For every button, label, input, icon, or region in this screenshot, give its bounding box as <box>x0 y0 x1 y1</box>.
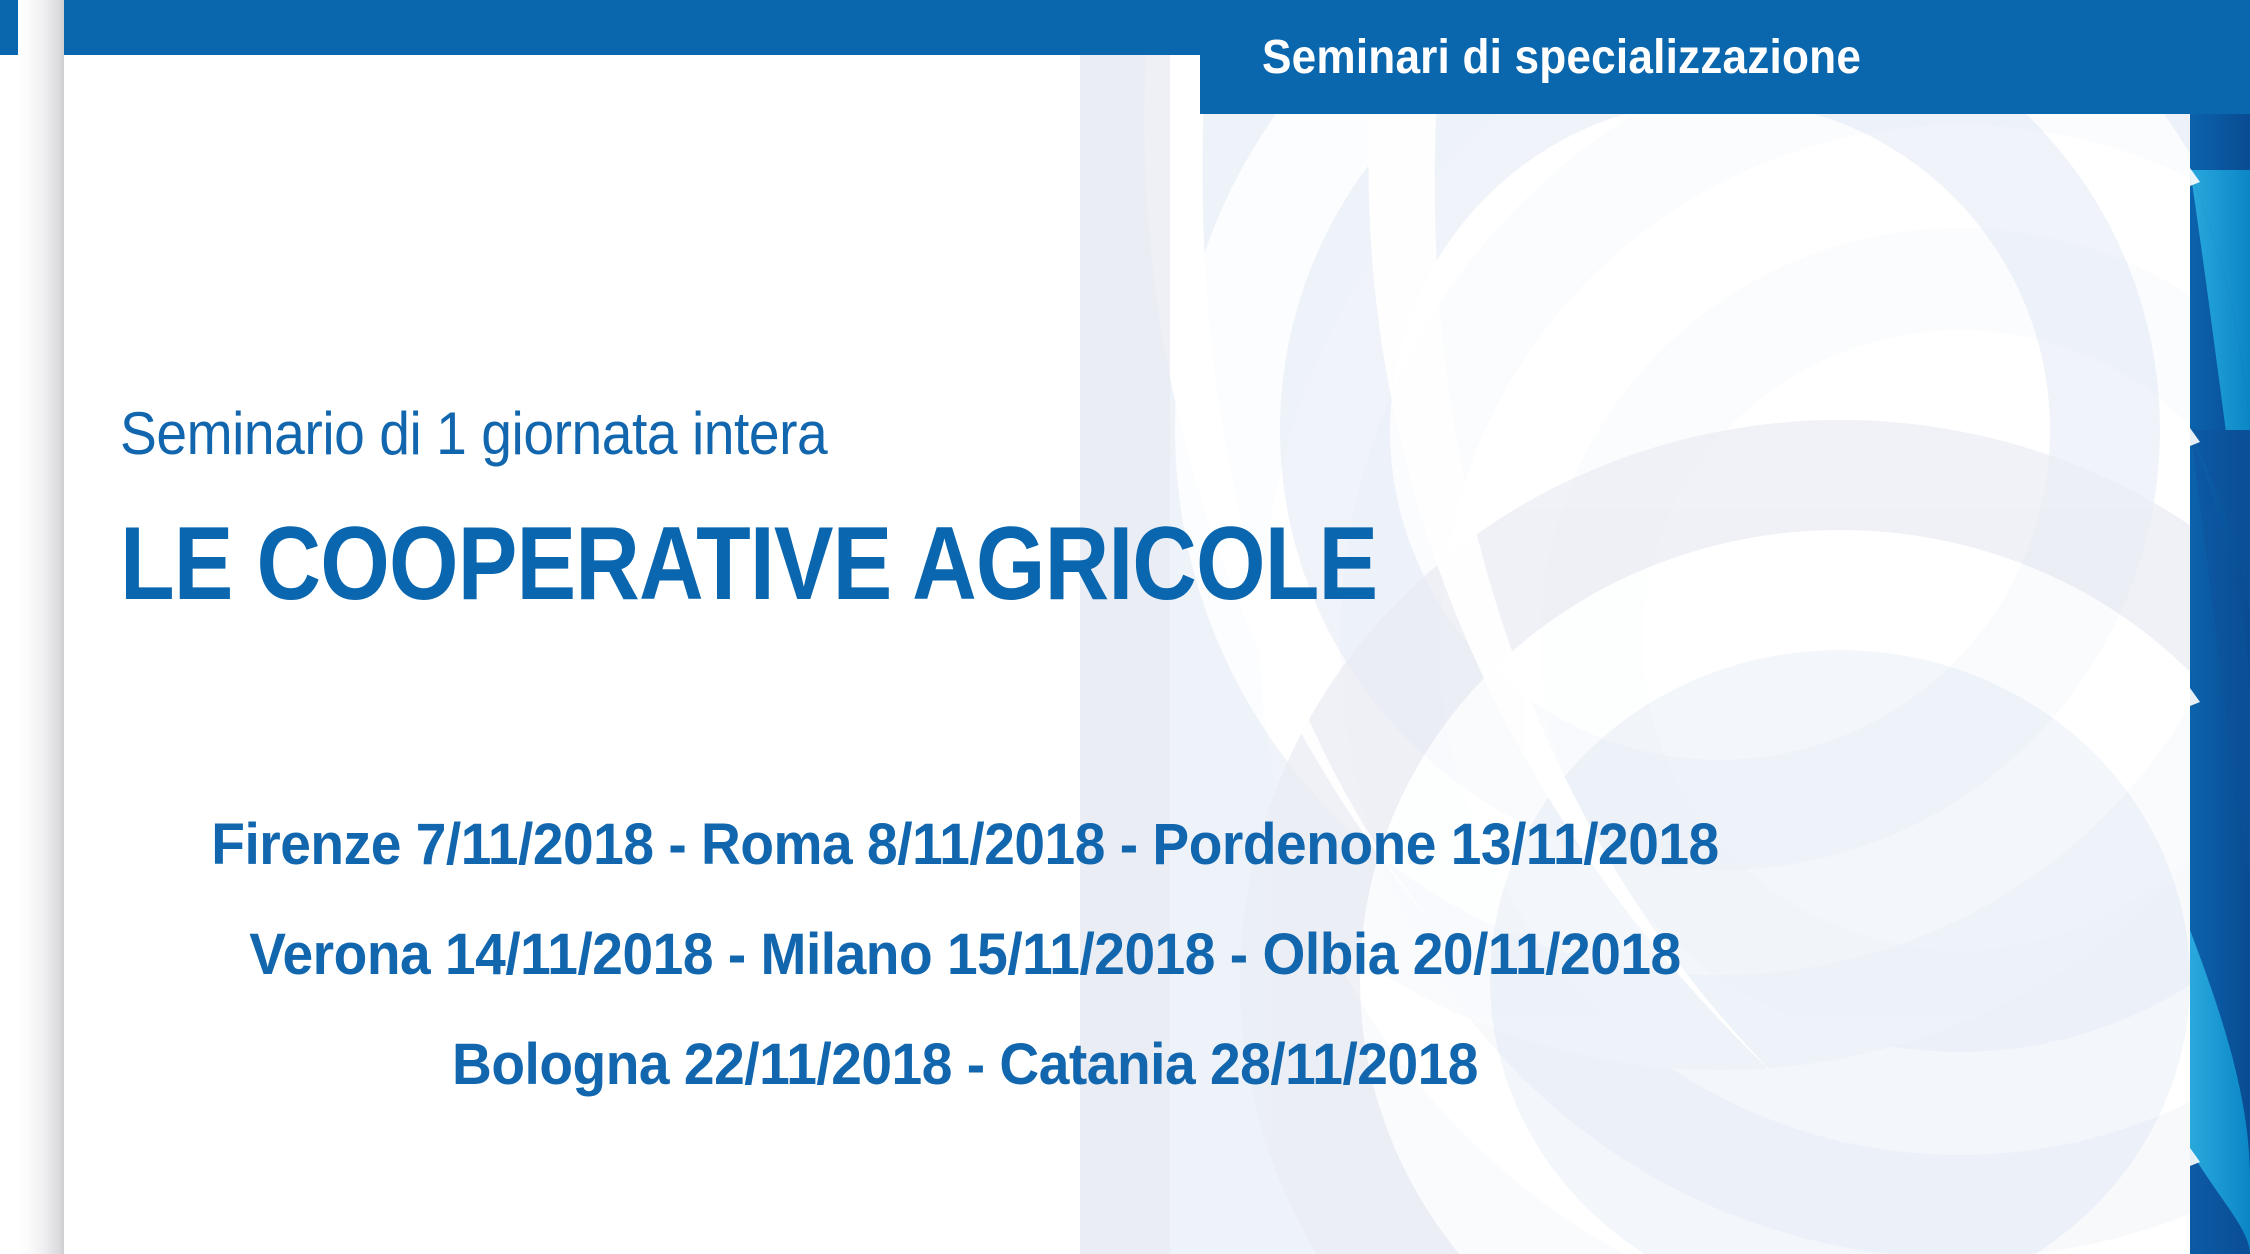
date-line: Firenze 7/11/2018 - Roma 8/11/2018 - Por… <box>48 790 1882 900</box>
date-line: Bologna 22/11/2018 - Catania 28/11/2018 <box>48 1010 1882 1120</box>
right-edge-ribbon <box>2190 0 2250 1254</box>
banner-label: Seminari di specializzazione <box>1262 30 1861 85</box>
seminar-banner: Seminari di specializzazione <box>1200 0 2250 114</box>
page-title: LE COOPERATIVE AGRICOLE <box>120 512 1377 616</box>
date-line: Verona 14/11/2018 - Milano 15/11/2018 - … <box>48 900 1882 1010</box>
dates-list: Firenze 7/11/2018 - Roma 8/11/2018 - Por… <box>0 790 1930 1120</box>
seminar-subtitle: Seminario di 1 giornata intera <box>120 404 827 464</box>
seminar-announcement-slide: Seminari di specializzazione Seminario d… <box>0 0 2250 1254</box>
